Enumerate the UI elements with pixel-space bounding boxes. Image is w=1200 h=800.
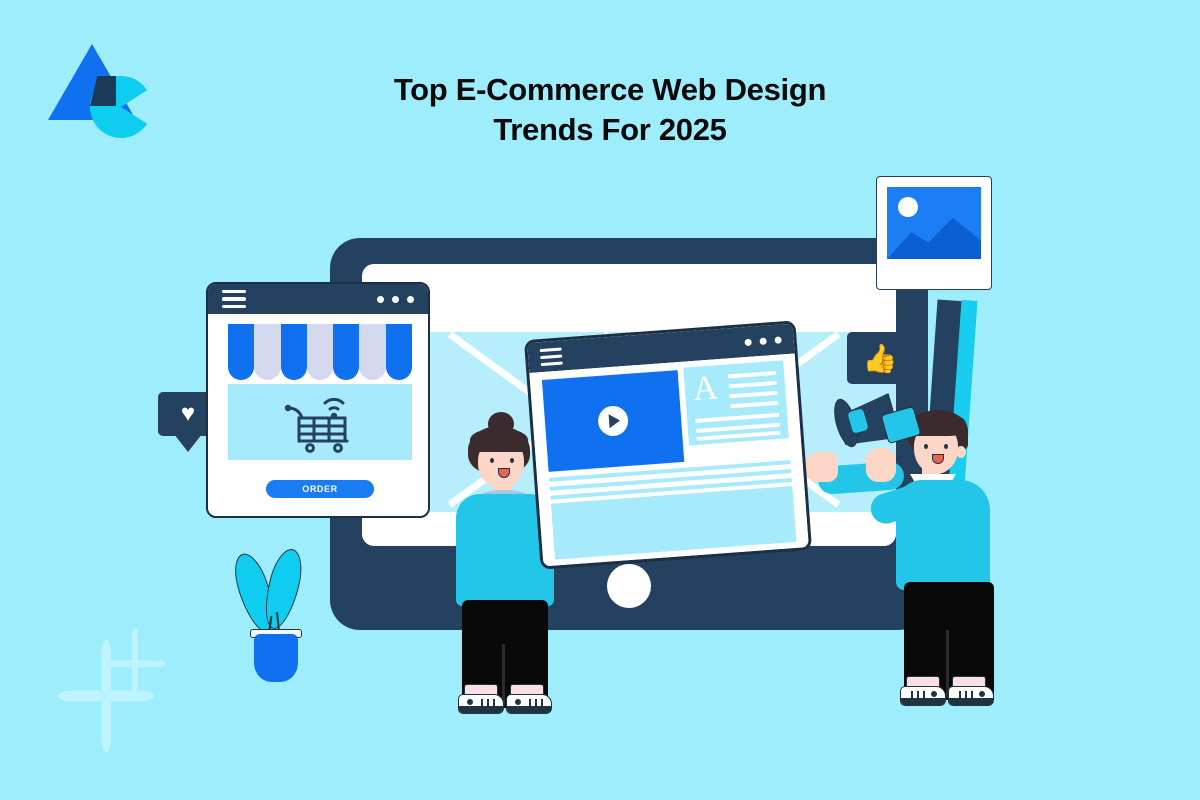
potted-plant bbox=[238, 548, 310, 688]
play-button-icon[interactable] bbox=[597, 405, 629, 437]
order-button[interactable]: ORDER bbox=[266, 480, 374, 498]
sun-icon bbox=[898, 197, 918, 217]
hamburger-icon[interactable] bbox=[222, 290, 246, 309]
hand-holding-megaphone bbox=[866, 448, 896, 482]
sneaker-right bbox=[506, 694, 552, 714]
eye-right bbox=[944, 444, 948, 449]
order-button-label: ORDER bbox=[302, 484, 338, 494]
sneaker-left bbox=[900, 686, 946, 706]
storefront-awning bbox=[228, 324, 412, 380]
thumbs-up-icon[interactable]: 👍 bbox=[847, 332, 913, 384]
window-dots-icon[interactable] bbox=[744, 336, 781, 346]
hair-front bbox=[470, 428, 528, 452]
window-dots-icon[interactable] bbox=[377, 296, 414, 303]
heart-glyph: ♥ bbox=[181, 400, 195, 428]
plant-pot bbox=[254, 634, 298, 682]
brand-logo[interactable] bbox=[48, 36, 152, 140]
monitor-home-button[interactable] bbox=[607, 564, 651, 608]
sparkle-icon-large bbox=[58, 640, 154, 752]
megaphone-icon bbox=[840, 394, 932, 456]
thumbs-up-glyph: 👍 bbox=[863, 342, 898, 375]
page-title-line-1: Top E-Commerce Web Design bbox=[394, 72, 826, 107]
hamburger-icon[interactable] bbox=[540, 347, 563, 366]
page-title-line-2: Trends For 2025 bbox=[300, 110, 920, 150]
person-with-megaphone-right bbox=[810, 392, 1000, 712]
page-title: Top E-Commerce Web Design Trends For 202… bbox=[300, 70, 920, 149]
sneaker-left bbox=[458, 694, 504, 714]
ear-shape bbox=[956, 446, 966, 458]
eye-right bbox=[510, 458, 514, 463]
photo-thumbnail bbox=[887, 187, 981, 259]
sneaker-right bbox=[948, 686, 994, 706]
shop-window-titlebar bbox=[208, 284, 428, 314]
content-browser-window[interactable]: A bbox=[524, 320, 812, 569]
hand-extended bbox=[804, 452, 838, 482]
image-placeholder-icon bbox=[876, 176, 992, 290]
video-player-block[interactable] bbox=[542, 370, 684, 472]
typography-glyph: A bbox=[692, 373, 719, 405]
bubble-tail bbox=[174, 434, 202, 452]
eye-left bbox=[490, 458, 494, 463]
illustration-canvas: Top E-Commerce Web Design Trends For 202… bbox=[0, 0, 1200, 800]
smart-shopping-cart-icon bbox=[281, 391, 359, 453]
sparkle-icon-small bbox=[104, 628, 166, 700]
shop-browser-window[interactable]: ORDER bbox=[206, 282, 430, 518]
leg-split-line bbox=[502, 644, 505, 706]
typography-block: A bbox=[683, 360, 788, 445]
shop-hero-area bbox=[228, 384, 412, 460]
mountain-outline bbox=[887, 211, 981, 259]
